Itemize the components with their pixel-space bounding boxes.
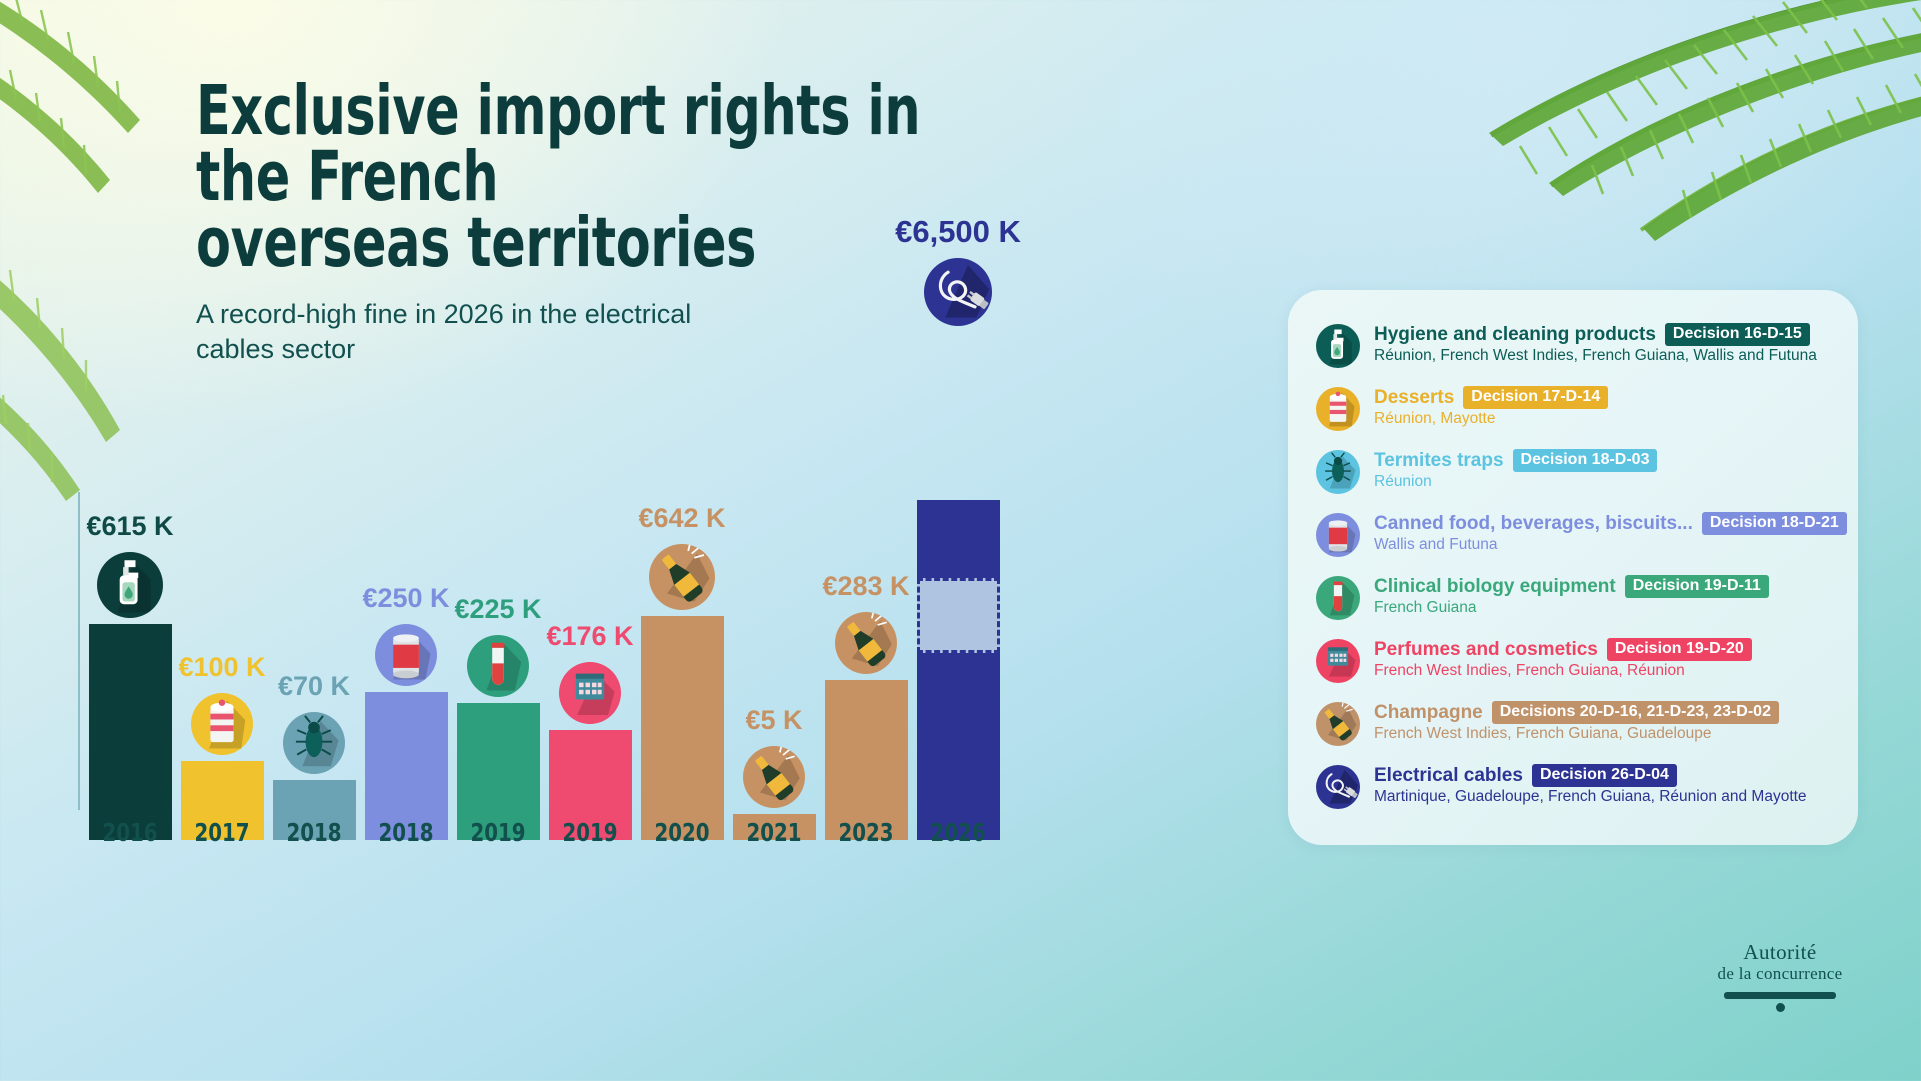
bar-value-label: €176 K [546, 621, 633, 652]
legend-item-headline: Termites trapsDecision 18-D-03 [1374, 449, 1832, 472]
legend-item-territories: Réunion, Mayotte [1374, 410, 1832, 428]
legend-item-label: Termites traps [1374, 450, 1504, 472]
test-tube-icon [1316, 576, 1360, 620]
canned-food-icon [375, 624, 437, 686]
x-axis-label-9: 2026 [918, 818, 999, 847]
legend-item-territories: Réunion, French West Indies, French Guia… [1374, 347, 1832, 365]
bar-column-2018-2: €70 K [268, 500, 360, 840]
cosmetics-icon [1316, 639, 1360, 683]
x-axis-label-3: 2018 [366, 818, 447, 847]
legend-item-text: Hygiene and cleaning productsDecision 16… [1374, 322, 1832, 365]
legend-item-headline: Hygiene and cleaning productsDecision 16… [1374, 323, 1832, 346]
champagne-icon [1316, 702, 1360, 746]
bar-chart: Amount of fines €615 K €100 K €70 K €250… [46, 470, 1056, 840]
test-tube-icon [467, 635, 529, 697]
legend-item-territories: Wallis and Futuna [1374, 536, 1832, 554]
x-axis-label-5: 2019 [550, 818, 631, 847]
logo-dot [1776, 1003, 1785, 1012]
legend-item-headline: DessertsDecision 17-D-14 [1374, 386, 1832, 409]
bar-value-label: €100 K [178, 652, 265, 683]
dessert-icon [1316, 387, 1360, 431]
legend-item-headline: Electrical cablesDecision 26-D-04 [1374, 764, 1832, 787]
bar-rect [825, 680, 908, 840]
bar-value-label: €615 K [86, 511, 173, 542]
x-axis-label-7: 2021 [734, 818, 815, 847]
legend-item-headline: Canned food, beverages, biscuits...Decis… [1374, 512, 1832, 535]
bar-group: €615 K €100 K €70 K €250 K [84, 500, 1056, 840]
bar-rect [89, 624, 172, 840]
bar-rect [917, 500, 1000, 840]
dessert-icon [191, 693, 253, 755]
legend-item-label: Champagne [1374, 702, 1483, 724]
bar-column-2017-1: €100 K [176, 500, 268, 840]
termite-icon [1316, 450, 1360, 494]
bar-value-label: €6,500 K [895, 214, 1021, 250]
electrical-plug-icon [924, 258, 992, 326]
legend-item-4[interactable]: Clinical biology equipmentDecision 19-D-… [1316, 574, 1832, 620]
termite-icon [283, 712, 345, 774]
bar-column-2019-4: €225 K [452, 500, 544, 840]
spray-bottle-icon [97, 552, 163, 618]
legend-item-label: Clinical biology equipment [1374, 576, 1616, 598]
champagne-icon [743, 746, 805, 808]
legend-item-territories: Réunion [1374, 473, 1832, 491]
legend-item-label: Hygiene and cleaning products [1374, 324, 1656, 346]
autorite-logo: Autorité de la concurrence [1700, 940, 1860, 1012]
bar-column-2016-0: €615 K [84, 500, 176, 840]
legend-item-label: Perfumes and cosmetics [1374, 639, 1598, 661]
bar-rect [641, 616, 724, 840]
x-axis-label-2: 2018 [274, 818, 355, 847]
x-axis-label-1: 2017 [182, 818, 263, 847]
bar-value-label: €283 K [822, 571, 909, 602]
legend-item-label: Electrical cables [1374, 765, 1523, 787]
x-axis-label-4: 2019 [458, 818, 539, 847]
legend-item-badge[interactable]: Decision 19-D-11 [1625, 575, 1769, 598]
legend-item-territories: French West Indies, French Guiana, Guade… [1374, 725, 1832, 743]
legend-item-2[interactable]: Termites trapsDecision 18-D-03Réunion [1316, 448, 1832, 494]
bar-column-2019-5: €176 K [544, 500, 636, 840]
bar-value-label: €5 K [745, 705, 802, 736]
logo-line-1: Autorité [1700, 940, 1860, 965]
legend-item-text: Electrical cablesDecision 26-D-04Martini… [1374, 763, 1832, 806]
bar-value-label: €250 K [362, 583, 449, 614]
legend-item-territories: Martinique, Guadeloupe, French Guiana, R… [1374, 788, 1832, 806]
bar-value-label: €225 K [454, 594, 541, 625]
spray-bottle-icon [1316, 324, 1360, 368]
x-axis-labels: 2016201720182018201920192020202120232026 [84, 818, 1056, 847]
y-axis-line [78, 492, 80, 810]
legend-item-text: DessertsDecision 17-D-14Réunion, Mayotte [1374, 385, 1832, 428]
legend-item-badge[interactable]: Decision 17-D-14 [1463, 386, 1608, 409]
bar-column-2020-6: €642 K [636, 500, 728, 840]
cosmetics-icon [559, 662, 621, 724]
legend-item-territories: French West Indies, French Guiana, Réuni… [1374, 662, 1832, 680]
bar-column-2026-9: €6,500 K [912, 500, 1004, 840]
legend-item-text: Perfumes and cosmeticsDecision 19-D-20Fr… [1374, 637, 1832, 680]
legend-item-5[interactable]: Perfumes and cosmeticsDecision 19-D-20Fr… [1316, 637, 1832, 683]
palm-frond-top-right [1191, 0, 1921, 290]
bar-value-label: €70 K [278, 671, 350, 702]
legend-item-headline: Clinical biology equipmentDecision 19-D-… [1374, 575, 1832, 598]
champagne-icon [835, 612, 897, 674]
legend-item-text: ChampagneDecisions 20-D-16, 21-D-23, 23-… [1374, 700, 1832, 743]
electrical-plug-icon [1316, 765, 1360, 809]
legend-item-territories: French Guiana [1374, 599, 1832, 617]
legend-item-badge[interactable]: Decision 19-D-20 [1607, 638, 1752, 661]
legend-item-7[interactable]: Electrical cablesDecision 26-D-04Martini… [1316, 763, 1832, 809]
x-axis-label-0: 2016 [90, 818, 171, 847]
bar-axis-break-segment [917, 578, 1000, 653]
legend-item-label: Canned food, beverages, biscuits... [1374, 513, 1693, 535]
legend-item-badge[interactable]: Decision 18-D-21 [1702, 512, 1847, 535]
legend-item-headline: Perfumes and cosmeticsDecision 19-D-20 [1374, 638, 1832, 661]
page-title: Exclusive import rights in the French ov… [196, 78, 1016, 277]
legend-item-1[interactable]: DessertsDecision 17-D-14Réunion, Mayotte [1316, 385, 1832, 431]
legend-item-badge[interactable]: Decision 16-D-15 [1665, 323, 1810, 346]
bar-value-label: €642 K [638, 503, 725, 534]
legend-item-6[interactable]: ChampagneDecisions 20-D-16, 21-D-23, 23-… [1316, 700, 1832, 746]
logo-line-2: de la concurrence [1700, 964, 1860, 984]
legend-item-text: Clinical biology equipmentDecision 19-D-… [1374, 574, 1832, 617]
logo-bar [1724, 992, 1836, 999]
legend-item-badge[interactable]: Decision 18-D-03 [1513, 449, 1658, 472]
page-subtitle: A record-high fine in 2026 in the electr… [196, 297, 756, 368]
bar-column-2021-7: €5 K [728, 500, 820, 840]
x-axis-label-6: 2020 [642, 818, 723, 847]
legend-item-headline: ChampagneDecisions 20-D-16, 21-D-23, 23-… [1374, 701, 1832, 724]
legend-item-text: Termites trapsDecision 18-D-03Réunion [1374, 448, 1832, 491]
legend-item-badge[interactable]: Decisions 20-D-16, 21-D-23, 23-D-02 [1492, 701, 1779, 724]
legend-item-text: Canned food, beverages, biscuits...Decis… [1374, 511, 1832, 554]
bar-column-2018-3: €250 K [360, 500, 452, 840]
legend-item-3[interactable]: Canned food, beverages, biscuits...Decis… [1316, 511, 1832, 557]
legend-panel: Hygiene and cleaning productsDecision 16… [1288, 290, 1858, 845]
x-axis-label-8: 2023 [826, 818, 907, 847]
champagne-icon [649, 544, 715, 610]
legend-item-badge[interactable]: Decision 26-D-04 [1532, 764, 1677, 787]
legend-item-label: Desserts [1374, 387, 1454, 409]
legend-item-0[interactable]: Hygiene and cleaning productsDecision 16… [1316, 322, 1832, 368]
header: Exclusive import rights in the French ov… [196, 78, 1196, 368]
bar-column-2023-8: €283 K [820, 500, 912, 840]
canned-food-icon [1316, 513, 1360, 557]
